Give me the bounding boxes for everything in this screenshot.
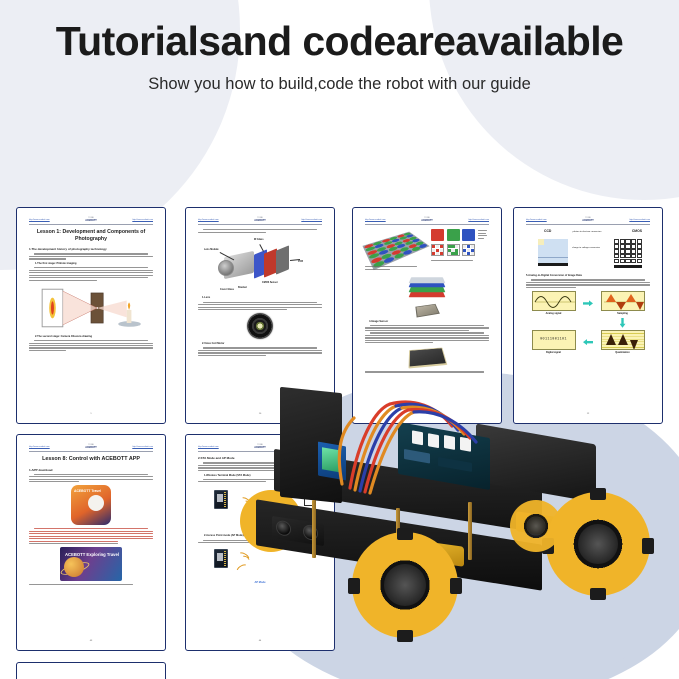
- analog-signal-box: [532, 291, 576, 311]
- sensor-chip-photo: [415, 304, 439, 318]
- page-number: 1: [22, 413, 160, 416]
- body-text-block: [29, 584, 153, 585]
- body-text-block: [365, 325, 489, 331]
- body-text-block: [29, 267, 153, 281]
- label-ccd: CCD: [544, 229, 551, 234]
- page-header: http://www.acebott.com TO BE ACEBOTT htt…: [198, 217, 322, 225]
- acebott-logo: TO BE ACEBOTT: [85, 444, 97, 450]
- page-title: Tutorialsand codeareavailable: [0, 19, 679, 63]
- sampling-box: [601, 291, 645, 311]
- header-link-right: http://www.acebott.com: [132, 219, 153, 222]
- green-channel: [447, 229, 460, 256]
- camera-exploded-figure: Lens Module IR Glass PCB CMOS Sensor Bra…: [198, 236, 322, 294]
- label-cmos-sensor: CMOS Sensor: [262, 281, 278, 285]
- label-pcb: PCB: [298, 260, 303, 264]
- body-text-block: [29, 474, 153, 483]
- figure-caption-right: [431, 260, 489, 261]
- cmos-readout-bar: [614, 265, 642, 268]
- app-icon-label: ACEBOTT Travel: [74, 490, 101, 494]
- label-charge-to-voltage: charge to voltage conversion: [572, 247, 600, 250]
- cmos-pixel-grid: [614, 239, 642, 263]
- header-link-right: http://www.acebott.com: [468, 219, 489, 222]
- header-link-left: http://www.acebott.com: [29, 446, 50, 449]
- acebott-logo: TO BE ACEBOTT: [421, 217, 433, 223]
- body-text-block: [29, 543, 153, 544]
- sampling-step: Sampling: [601, 291, 645, 316]
- header-link-right: http://www.acebott.com: [132, 446, 153, 449]
- standoff-post: [468, 502, 472, 560]
- pcb-plate: [276, 245, 289, 274]
- subsection-heading: 1.The first stage: Pinhole imaging: [35, 262, 153, 266]
- lesson-title: Lesson 8: Control with ACEBOTT APP: [29, 456, 153, 463]
- page-content: http://www.acebott.com TO BE ACEBOTT htt…: [22, 213, 160, 418]
- arrow-down-icon: [620, 318, 626, 328]
- digital-signal-label: Digital signal: [532, 351, 576, 355]
- header-link-right: http://www.acebott.com: [301, 219, 322, 222]
- ccd-sensor-photo: [409, 348, 448, 369]
- quantization-label: Quantization: [601, 351, 645, 355]
- swatch-legend: [478, 229, 490, 240]
- bayer-filter-figure: [365, 229, 489, 271]
- page-header: http://www.acebott.com TO BE ACEBOTT htt…: [365, 217, 489, 225]
- page-header: http://www.acebott.com TO BE ACEBOTT htt…: [29, 217, 153, 225]
- esp32-chip: [217, 553, 223, 561]
- body-text-block: [365, 332, 489, 343]
- header-link-right: http://www.acebott.com: [629, 219, 650, 222]
- lesson-title: Lesson 1: Development and Components of …: [29, 229, 153, 243]
- digital-signal-step: 00111001101 Digital signal: [532, 330, 576, 355]
- ad-conversion-figure: Analog signal Sampling: [526, 291, 650, 354]
- pinhole-imaging-figure: [29, 284, 153, 332]
- ccd-cmos-comparison-figure: CCD CMOS photon to electron conversion c…: [526, 229, 650, 271]
- document-card-lesson-1-photography[interactable]: http://www.acebott.com TO BE ACEBOTT htt…: [16, 207, 166, 424]
- analog-signal-step: Analog signal: [532, 291, 576, 316]
- arrow-left-icon: [583, 339, 593, 345]
- label-cmos: CMOS: [632, 229, 642, 234]
- analog-signal-label: Analog signal: [532, 312, 576, 316]
- acebott-loading-screen[interactable]: ACEBOTT Exploring Travel: [60, 547, 122, 581]
- jumper-wire-harness: [330, 392, 520, 502]
- arrow-right-icon: [583, 300, 593, 306]
- acebott-app-icon[interactable]: ACEBOTT Travel: [71, 485, 111, 525]
- planet-icon: [64, 557, 84, 577]
- lens-photo: [247, 313, 273, 339]
- esp32-pins: [224, 492, 226, 508]
- app-banner-label: ACEBOTT Exploring Travel: [65, 552, 119, 557]
- body-text-block: [29, 340, 153, 351]
- body-text-block: [198, 302, 322, 311]
- digital-signal-box: 00111001101: [532, 330, 576, 350]
- header-link-left: http://www.acebott.com: [365, 219, 386, 222]
- page-number: 43: [22, 640, 160, 643]
- sensor-layer-stack-figure: [404, 274, 450, 300]
- header-link-left: http://www.acebott.com: [198, 446, 219, 449]
- binary-value: 00111001101: [540, 337, 567, 342]
- page-header: http://www.acebott.com TO BE ACEBOTT htt…: [526, 217, 650, 225]
- pinhole-diagram-svg: [29, 284, 153, 332]
- color-channel-swatches: [431, 229, 489, 256]
- body-text-block: [29, 253, 153, 259]
- label-lens-module: Lens Module: [204, 248, 219, 252]
- ccd-readout-bar: [538, 263, 568, 266]
- banner-header: Tutorialsand codeareavailable Show you h…: [0, 0, 679, 94]
- section-heading: 4.Image Sensor: [369, 320, 489, 324]
- acebott-logo: TO BE ACEBOTT: [254, 217, 266, 223]
- section-heading: 5.Analog-to-Digital Conversion of Image …: [526, 274, 650, 278]
- camera-lens: [218, 260, 234, 276]
- acebott-logo: TO BE ACEBOTT: [582, 217, 594, 223]
- document-card-lesson-8-acebott-app[interactable]: http://www.acebott.com TO BE ACEBOTT htt…: [16, 434, 166, 651]
- page-subtitle: Show you how to build,code the robot wit…: [0, 75, 679, 94]
- ccd-pixel-grid: [538, 239, 568, 263]
- section-heading: 1.APP download: [29, 468, 153, 473]
- document-card-time-redundancy[interactable]: http://www.acebott.com TO BE ACEBOTT htt…: [16, 662, 166, 679]
- standoff-post: [312, 500, 316, 558]
- wheel-front-right: [546, 492, 650, 596]
- acebott-logo: TO BE ACEBOTT: [85, 217, 97, 223]
- wheel-rear-right: [510, 500, 562, 552]
- esp32-board-icon: [214, 490, 228, 509]
- esp32-board-icon: [214, 549, 228, 568]
- body-text-block: [198, 347, 322, 356]
- subsection-heading: 1.Lens: [202, 296, 322, 300]
- label-photon-to-electron: photon to electron conversion: [570, 231, 604, 234]
- page-header: http://www.acebott.com TO BE ACEBOTT htt…: [29, 444, 153, 452]
- esp32-chip: [217, 494, 223, 502]
- esp32-pins: [224, 551, 226, 567]
- app-icon-character: [88, 495, 104, 511]
- label-bracket: Bracket: [238, 286, 247, 290]
- intro-text-block: [198, 229, 322, 233]
- header-link-left: http://www.acebott.com: [198, 219, 219, 222]
- sampling-label: Sampling: [601, 312, 645, 316]
- subsection-heading: 2.The second stage: Camera Obscura drawi…: [35, 335, 153, 339]
- page-content: http://www.acebott.com TO BE ACEBOTT htt…: [22, 668, 160, 679]
- blue-channel: [462, 229, 475, 256]
- note-text-block: [29, 528, 153, 542]
- quantization-step: Quantization: [601, 330, 645, 355]
- red-channel: [431, 229, 444, 256]
- body-text-block: [526, 279, 650, 288]
- header-link-left: http://www.acebott.com: [526, 219, 547, 222]
- page-content: http://www.acebott.com TO BE ACEBOTT htt…: [22, 440, 160, 645]
- bayer-grid: [362, 232, 429, 271]
- label-cover-glass: Cover Glass: [220, 288, 234, 292]
- subsection-heading: 2.Voice Coil Motor: [202, 342, 322, 346]
- section-heading: 1.The development history of photography…: [29, 247, 153, 252]
- quantization-box: [601, 330, 645, 350]
- header-link-left: http://www.acebott.com: [29, 219, 50, 222]
- figure-caption-left: [365, 266, 427, 270]
- wheel-front-left: [352, 532, 458, 638]
- robot-car-photo: [246, 372, 666, 672]
- label-ir-glass: IR Glass: [254, 238, 264, 242]
